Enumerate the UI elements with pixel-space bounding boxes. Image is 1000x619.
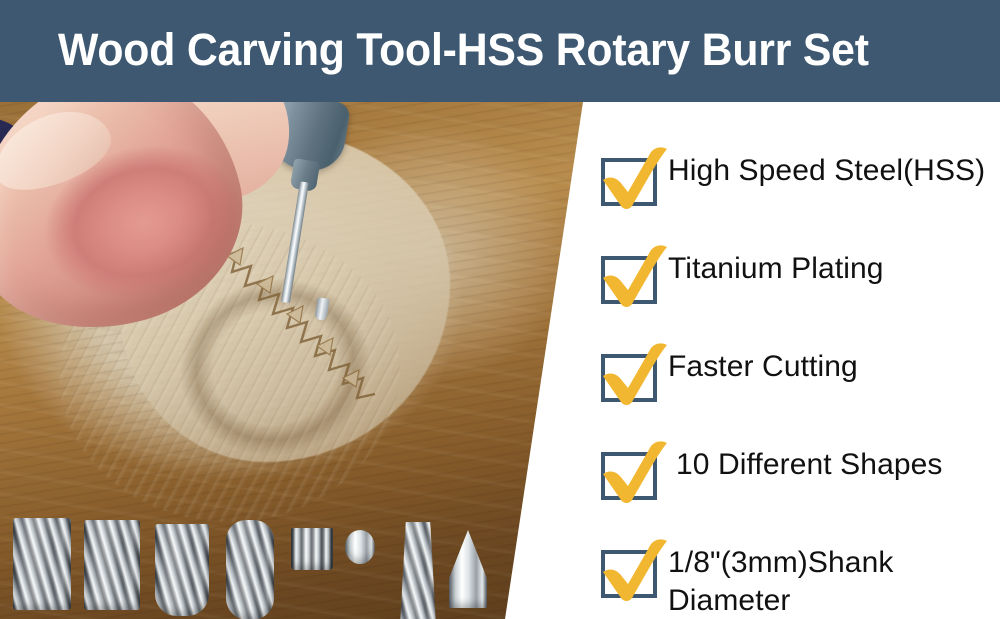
feature-label: 1/8"(3mm)Shank Diameter <box>668 544 998 619</box>
feature-label: Faster Cutting <box>668 348 998 386</box>
burr-shank <box>307 564 318 619</box>
check-icon <box>599 342 671 406</box>
checkbox-4[interactable] <box>601 452 657 500</box>
feature-row: 10 Different Shapes <box>598 420 1000 516</box>
feature-list: High Speed Steel(HSS)Titanium PlatingFas… <box>598 102 1000 619</box>
burr-head <box>226 520 274 619</box>
checkbox-5[interactable] <box>601 550 657 598</box>
check-icon <box>599 440 671 504</box>
cylinder-burr-fine-spiral <box>72 402 152 619</box>
feature-label: High Speed Steel(HSS) <box>668 152 998 190</box>
feature-label: 10 Different Shapes <box>676 446 1000 484</box>
checkbox-2[interactable] <box>601 256 657 304</box>
cone-point-burr <box>428 402 508 619</box>
page-title: Wood Carving Tool-HSS Rotary Burr Set <box>58 0 869 102</box>
checkbox-1[interactable] <box>601 158 657 206</box>
burr-head <box>449 530 487 608</box>
feature-row: Titanium Plating <box>598 224 1000 320</box>
product-photo <box>0 102 600 619</box>
check-icon <box>599 538 671 602</box>
burr-bit-row <box>0 402 600 619</box>
header-band: Wood Carving Tool-HSS Rotary Burr Set <box>0 0 1000 102</box>
product-banner: Wood Carving Tool-HSS Rotary Burr Set Hi… <box>0 0 1000 619</box>
checkbox-3[interactable] <box>601 354 657 402</box>
check-icon <box>599 244 671 308</box>
feature-label: Titanium Plating <box>668 250 998 288</box>
burr-head <box>84 520 140 610</box>
burr-head <box>13 518 71 610</box>
feature-row: 1/8"(3mm)Shank Diameter <box>598 518 1000 614</box>
check-icon <box>599 146 671 210</box>
feature-row: Faster Cutting <box>598 322 1000 418</box>
burr-shank <box>355 558 366 619</box>
cylinder-burr-coarse-spiral <box>2 402 82 619</box>
burr-head <box>155 524 209 616</box>
feature-row: High Speed Steel(HSS) <box>598 126 1000 222</box>
burr-head <box>345 530 375 564</box>
